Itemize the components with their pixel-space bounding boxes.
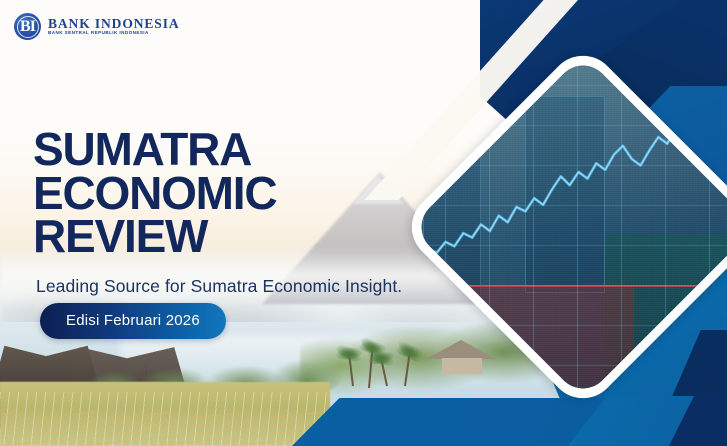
title-line-2: ECONOMIC — [33, 172, 276, 216]
logo-monogram: BI — [20, 19, 35, 35]
edition-badge: Edisi Februari 2026 — [40, 303, 226, 339]
bank-indonesia-seal-icon: BI — [14, 13, 41, 40]
title-line-1: SUMATRA — [33, 128, 276, 172]
logo-text: BANK INDONESIA BANK SENTRAL REPUBLIK IND… — [48, 17, 180, 36]
tagline: Leading Source for Sumatra Economic Insi… — [36, 276, 402, 297]
report-cover: BI BANK INDONESIA BANK SENTRAL REPUBLIK … — [0, 0, 727, 446]
bank-indonesia-logo: BI BANK INDONESIA BANK SENTRAL REPUBLIK … — [14, 13, 180, 40]
title-line-3: REVIEW — [33, 215, 276, 259]
blue-band-bottom — [280, 398, 610, 446]
logo-name: BANK INDONESIA — [48, 17, 180, 31]
page-title: SUMATRA ECONOMIC REVIEW — [33, 128, 276, 259]
logo-subtitle: BANK SENTRAL REPUBLIK INDONESIA — [48, 31, 180, 36]
